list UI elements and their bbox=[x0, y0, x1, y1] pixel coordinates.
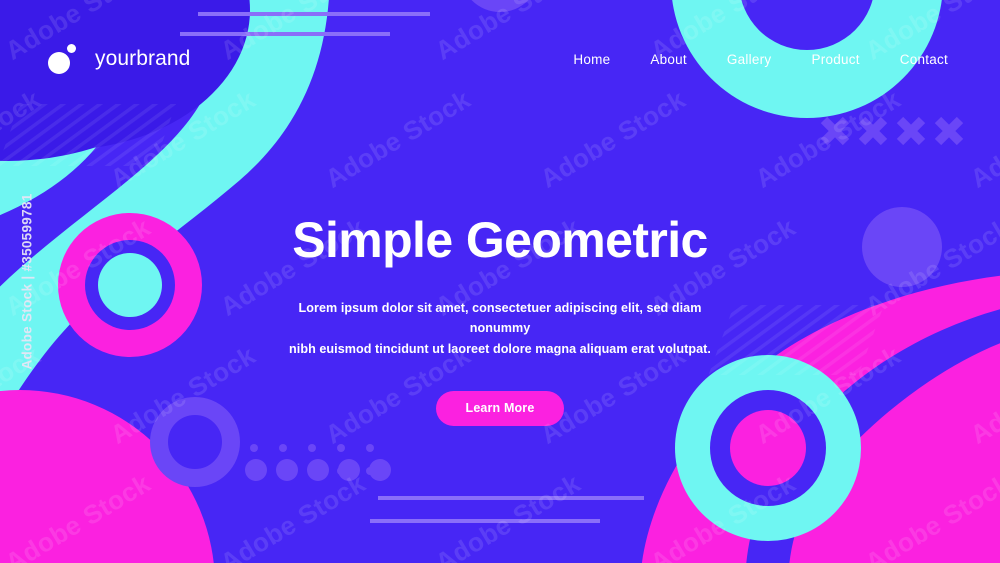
stock-watermark-text: Adobe Stock bbox=[645, 468, 801, 563]
nav-link-contact[interactable]: Contact bbox=[900, 52, 948, 67]
dot-grid bbox=[250, 444, 374, 475]
stock-watermark-text: Adobe Stock bbox=[0, 468, 156, 563]
x-mark bbox=[824, 120, 846, 142]
two-dot-logo-icon bbox=[48, 44, 82, 74]
x-mark bbox=[938, 120, 960, 142]
stock-watermark-text: Adobe Stock bbox=[215, 468, 371, 563]
dot-grid-bottom bbox=[245, 459, 391, 481]
x-mark bbox=[900, 120, 922, 142]
nav-link-about[interactable]: About bbox=[650, 52, 687, 67]
nav-link-home[interactable]: Home bbox=[573, 52, 610, 67]
hero-paragraph: Lorem ipsum dolor sit amet, consectetuer… bbox=[280, 298, 720, 359]
hero-paragraph-line-2: nibh euismod tincidunt ut laoreet dolore… bbox=[289, 342, 711, 356]
nav-link-gallery[interactable]: Gallery bbox=[727, 52, 772, 67]
x-mark bbox=[862, 120, 884, 142]
site-header: yourbrand Home About Gallery Product Con… bbox=[0, 0, 1000, 118]
x-marks-group bbox=[824, 120, 960, 142]
page-title: Simple Geometric bbox=[292, 214, 708, 267]
stock-watermark-text: Adobe Stock bbox=[430, 468, 586, 563]
learn-more-button[interactable]: Learn More bbox=[436, 391, 565, 426]
landing-page: yourbrand Home About Gallery Product Con… bbox=[0, 0, 1000, 563]
hero-section: Simple Geometric Lorem ipsum dolor sit a… bbox=[0, 214, 1000, 426]
main-navigation: Home About Gallery Product Contact bbox=[573, 52, 954, 67]
hero-paragraph-line-1: Lorem ipsum dolor sit amet, consectetuer… bbox=[299, 301, 702, 335]
nav-link-product[interactable]: Product bbox=[811, 52, 859, 67]
stock-watermark-text: Adobe Stock bbox=[860, 468, 1000, 563]
brand-name: yourbrand bbox=[95, 47, 190, 71]
brand-logo[interactable]: yourbrand bbox=[48, 44, 190, 74]
